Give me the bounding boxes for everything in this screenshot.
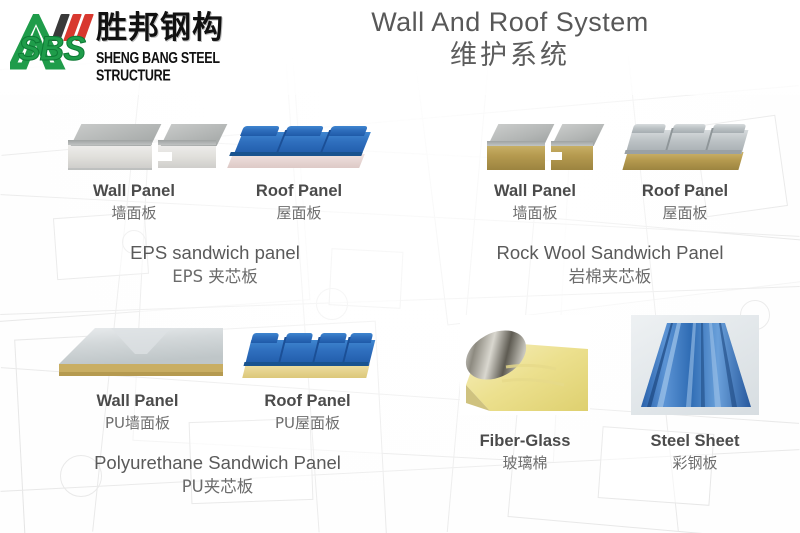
product-label-cn: 玻璃棉 bbox=[502, 452, 547, 474]
product-label-en: Wall Panel bbox=[494, 180, 576, 202]
rock-wool-wall-panel-photo bbox=[473, 108, 597, 180]
company-logo: SBS 胜邦钢构 SHENG BANG STEEL STRUCTURE bbox=[8, 6, 274, 76]
product-pu-wall[interactable]: Wall Panel PU墙面板 bbox=[48, 320, 228, 434]
product-steel-sheet[interactable]: Steel Sheet 彩钢板 bbox=[610, 315, 780, 474]
logo-latin-text: SBS bbox=[18, 32, 85, 66]
logo-chinese-name: 胜邦钢构 bbox=[96, 11, 224, 45]
product-label-cn: 屋面板 bbox=[276, 202, 321, 224]
pu-wall-panel-photo bbox=[51, 320, 225, 390]
product-eps-roof[interactable]: Roof Panel 屋面板 bbox=[218, 108, 380, 224]
pu-roof-panel-photo bbox=[238, 320, 378, 390]
group-caption-cn: EPS 夹芯板 bbox=[50, 265, 380, 289]
product-pu-roof[interactable]: Roof Panel PU屋面板 bbox=[228, 320, 388, 434]
product-eps-wall[interactable]: Wall Panel 墙面板 bbox=[50, 108, 218, 224]
product-label-cn: 屋面板 bbox=[662, 202, 707, 224]
product-label-cn: PU墙面板 bbox=[105, 412, 170, 434]
product-label-en: Fiber-Glass bbox=[480, 430, 571, 452]
fiber-glass-shape bbox=[460, 315, 590, 415]
product-label-en: Roof Panel bbox=[264, 390, 350, 412]
product-group-materials: Fiber-Glass 玻璃棉 bbox=[440, 315, 780, 474]
product-fiber-glass[interactable]: Fiber-Glass 玻璃棉 bbox=[440, 315, 610, 474]
product-label-en: Wall Panel bbox=[93, 180, 175, 202]
slide-canvas: SBS 胜邦钢构 SHENG BANG STEEL STRUCTURE Wall… bbox=[0, 0, 800, 533]
eps-wall-panel-photo bbox=[54, 108, 214, 180]
rock-wool-roof-panel-photo bbox=[619, 108, 751, 180]
group-caption-en: Polyurethane Sandwich Panel bbox=[45, 450, 390, 475]
product-label-en: Wall Panel bbox=[97, 390, 179, 412]
product-rockwool-roof[interactable]: Roof Panel 屋面板 bbox=[610, 108, 760, 224]
group-caption-en: Rock Wool Sandwich Panel bbox=[450, 240, 770, 265]
steel-sheet-photo bbox=[631, 315, 759, 418]
product-label-cn: 墙面板 bbox=[111, 202, 156, 224]
title-english: Wall And Roof System bbox=[300, 6, 720, 39]
product-group-pu: Wall Panel PU墙面板 Roof Panel PU屋面板 bbox=[45, 320, 390, 499]
eps-roof-panel-photo bbox=[224, 108, 374, 180]
group-caption-cn: 岩棉夹芯板 bbox=[450, 265, 770, 289]
product-group-rockwool: Wall Panel 墙面板 Roof Panel 屋面板 Rock Wool bbox=[450, 108, 770, 289]
product-label-en: Roof Panel bbox=[642, 180, 728, 202]
logo-english-name: SHENG BANG STEEL STRUCTURE bbox=[96, 49, 272, 84]
product-label-cn: 墙面板 bbox=[512, 202, 557, 224]
product-label-en: Steel Sheet bbox=[651, 430, 740, 452]
product-label-cn: 彩钢板 bbox=[672, 452, 717, 474]
group-caption-cn: PU夹芯板 bbox=[45, 475, 390, 499]
logo-mark-icon: SBS bbox=[8, 10, 94, 72]
title-chinese: 维护系统 bbox=[300, 39, 720, 73]
group-caption-en: EPS sandwich panel bbox=[50, 240, 380, 265]
pu-wall-shape bbox=[51, 320, 225, 390]
product-label-cn: PU屋面板 bbox=[275, 412, 340, 434]
product-label-en: Roof Panel bbox=[256, 180, 342, 202]
product-group-eps: Wall Panel 墙面板 Roof Panel 屋面板 EPS sandw bbox=[50, 108, 380, 289]
product-rockwool-wall[interactable]: Wall Panel 墙面板 bbox=[460, 108, 610, 224]
steel-sheet-shape bbox=[631, 315, 759, 415]
page-title: Wall And Roof System 维护系统 bbox=[300, 6, 720, 73]
fiber-glass-roll-photo bbox=[460, 315, 590, 418]
